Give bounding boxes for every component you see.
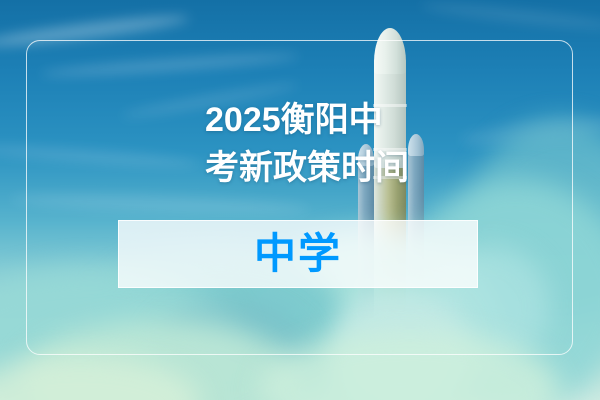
decorative-frame <box>26 40 573 355</box>
banner-image: 2025衡阳中考新政策时间 中学 <box>0 0 600 400</box>
headline-line-2: 考新政策时间 <box>205 149 409 187</box>
category-label: 中学 <box>254 233 342 275</box>
page-title: 2025衡阳中考新政策时间 <box>205 96 535 192</box>
headline-line-1: 2025衡阳中 <box>205 101 383 139</box>
category-band[interactable]: 中学 <box>118 220 478 288</box>
